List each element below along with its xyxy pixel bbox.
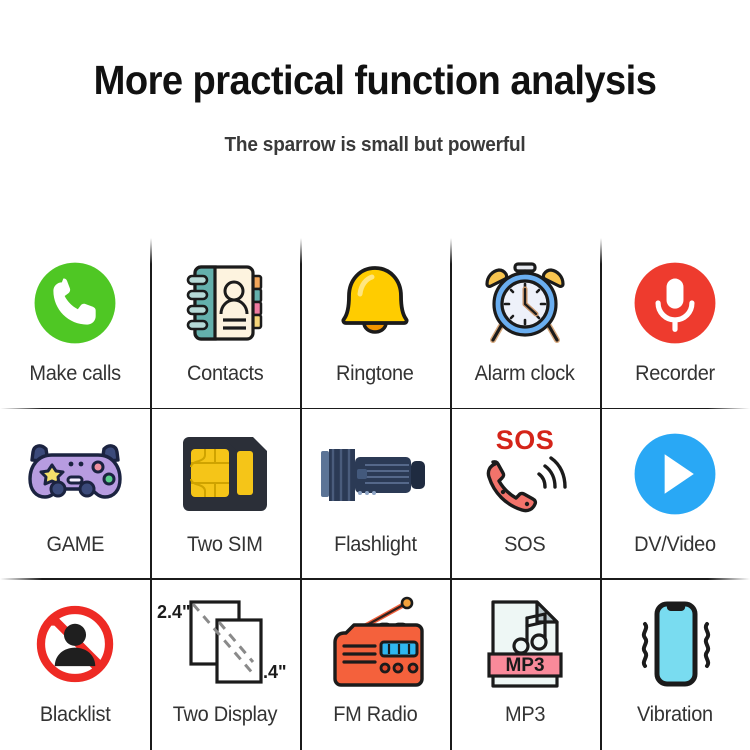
alarm-clock-icon <box>450 244 600 362</box>
feature-cell-mp3[interactable]: MP3 MP3 <box>450 579 600 750</box>
blocked-user-icon <box>0 585 150 703</box>
play-circle-icon <box>600 415 750 533</box>
feature-label: Recorder <box>635 362 715 386</box>
feature-cell-two-sim[interactable]: Two SIM <box>150 409 300 580</box>
feature-cell-two-display[interactable]: 2.4" 1.4" Two Display <box>150 579 300 750</box>
feature-cell-recorder[interactable]: Recorder <box>600 238 750 409</box>
mp3-file-icon: MP3 <box>450 585 600 703</box>
page-title: More practical function analysis <box>26 58 724 103</box>
contacts-book-icon <box>150 244 300 362</box>
feature-cell-alarm-clock[interactable]: Alarm clock <box>450 238 600 409</box>
feature-cell-dv-video[interactable]: DV/Video <box>600 409 750 580</box>
feature-label: Two SIM <box>187 533 263 557</box>
phone-icon <box>0 244 150 362</box>
feature-label: Two Display <box>173 703 277 727</box>
radio-icon <box>300 585 450 703</box>
feature-cell-make-calls[interactable]: Make calls <box>0 238 150 409</box>
feature-cell-contacts[interactable]: Contacts <box>150 238 300 409</box>
feature-cell-flashlight[interactable]: Flashlight <box>300 409 450 580</box>
microphone-icon <box>600 244 750 362</box>
feature-label: Ringtone <box>336 362 414 386</box>
feature-label: Make calls <box>29 362 120 386</box>
flashlight-icon <box>300 415 450 533</box>
feature-cell-game[interactable]: GAME <box>0 409 150 580</box>
feature-cell-blacklist[interactable]: Blacklist <box>0 579 150 750</box>
two-screens-icon: 2.4" 1.4" <box>150 585 300 703</box>
gamepad-icon <box>0 415 150 533</box>
page-root: More practical function analysis The spa… <box>0 0 750 750</box>
bell-icon <box>300 244 450 362</box>
feature-label: SOS <box>504 533 545 557</box>
vibrating-phone-icon <box>600 585 750 703</box>
feature-cell-vibration[interactable]: Vibration <box>600 579 750 750</box>
feature-label: Contacts <box>187 362 263 386</box>
page-subtitle: The sparrow is small but powerful <box>19 134 732 157</box>
sos-badge-text: SOS <box>496 427 555 454</box>
feature-cell-ringtone[interactable]: Ringtone <box>300 238 450 409</box>
feature-label: Flashlight <box>334 533 417 557</box>
feature-label: DV/Video <box>634 533 716 557</box>
feature-cell-sos[interactable]: SOS SOS <box>450 409 600 580</box>
mp3-badge-text: MP3 <box>505 655 544 676</box>
sos-icon-stack: SOS <box>481 415 569 533</box>
sim-card-icon <box>150 415 300 533</box>
feature-label: Blacklist <box>40 703 111 727</box>
feature-label: FM Radio <box>333 703 417 727</box>
feature-label: MP3 <box>505 703 545 727</box>
display-size-large-label: 2.4" <box>157 602 191 622</box>
feature-label: GAME <box>46 533 104 557</box>
feature-label: Alarm clock <box>475 362 575 386</box>
sos-phone-icon <box>481 454 569 516</box>
feature-grid: Make calls <box>0 238 750 750</box>
header: More practical function analysis The spa… <box>0 0 750 157</box>
feature-cell-fm-radio[interactable]: FM Radio <box>300 579 450 750</box>
feature-label: Vibration <box>637 703 713 727</box>
